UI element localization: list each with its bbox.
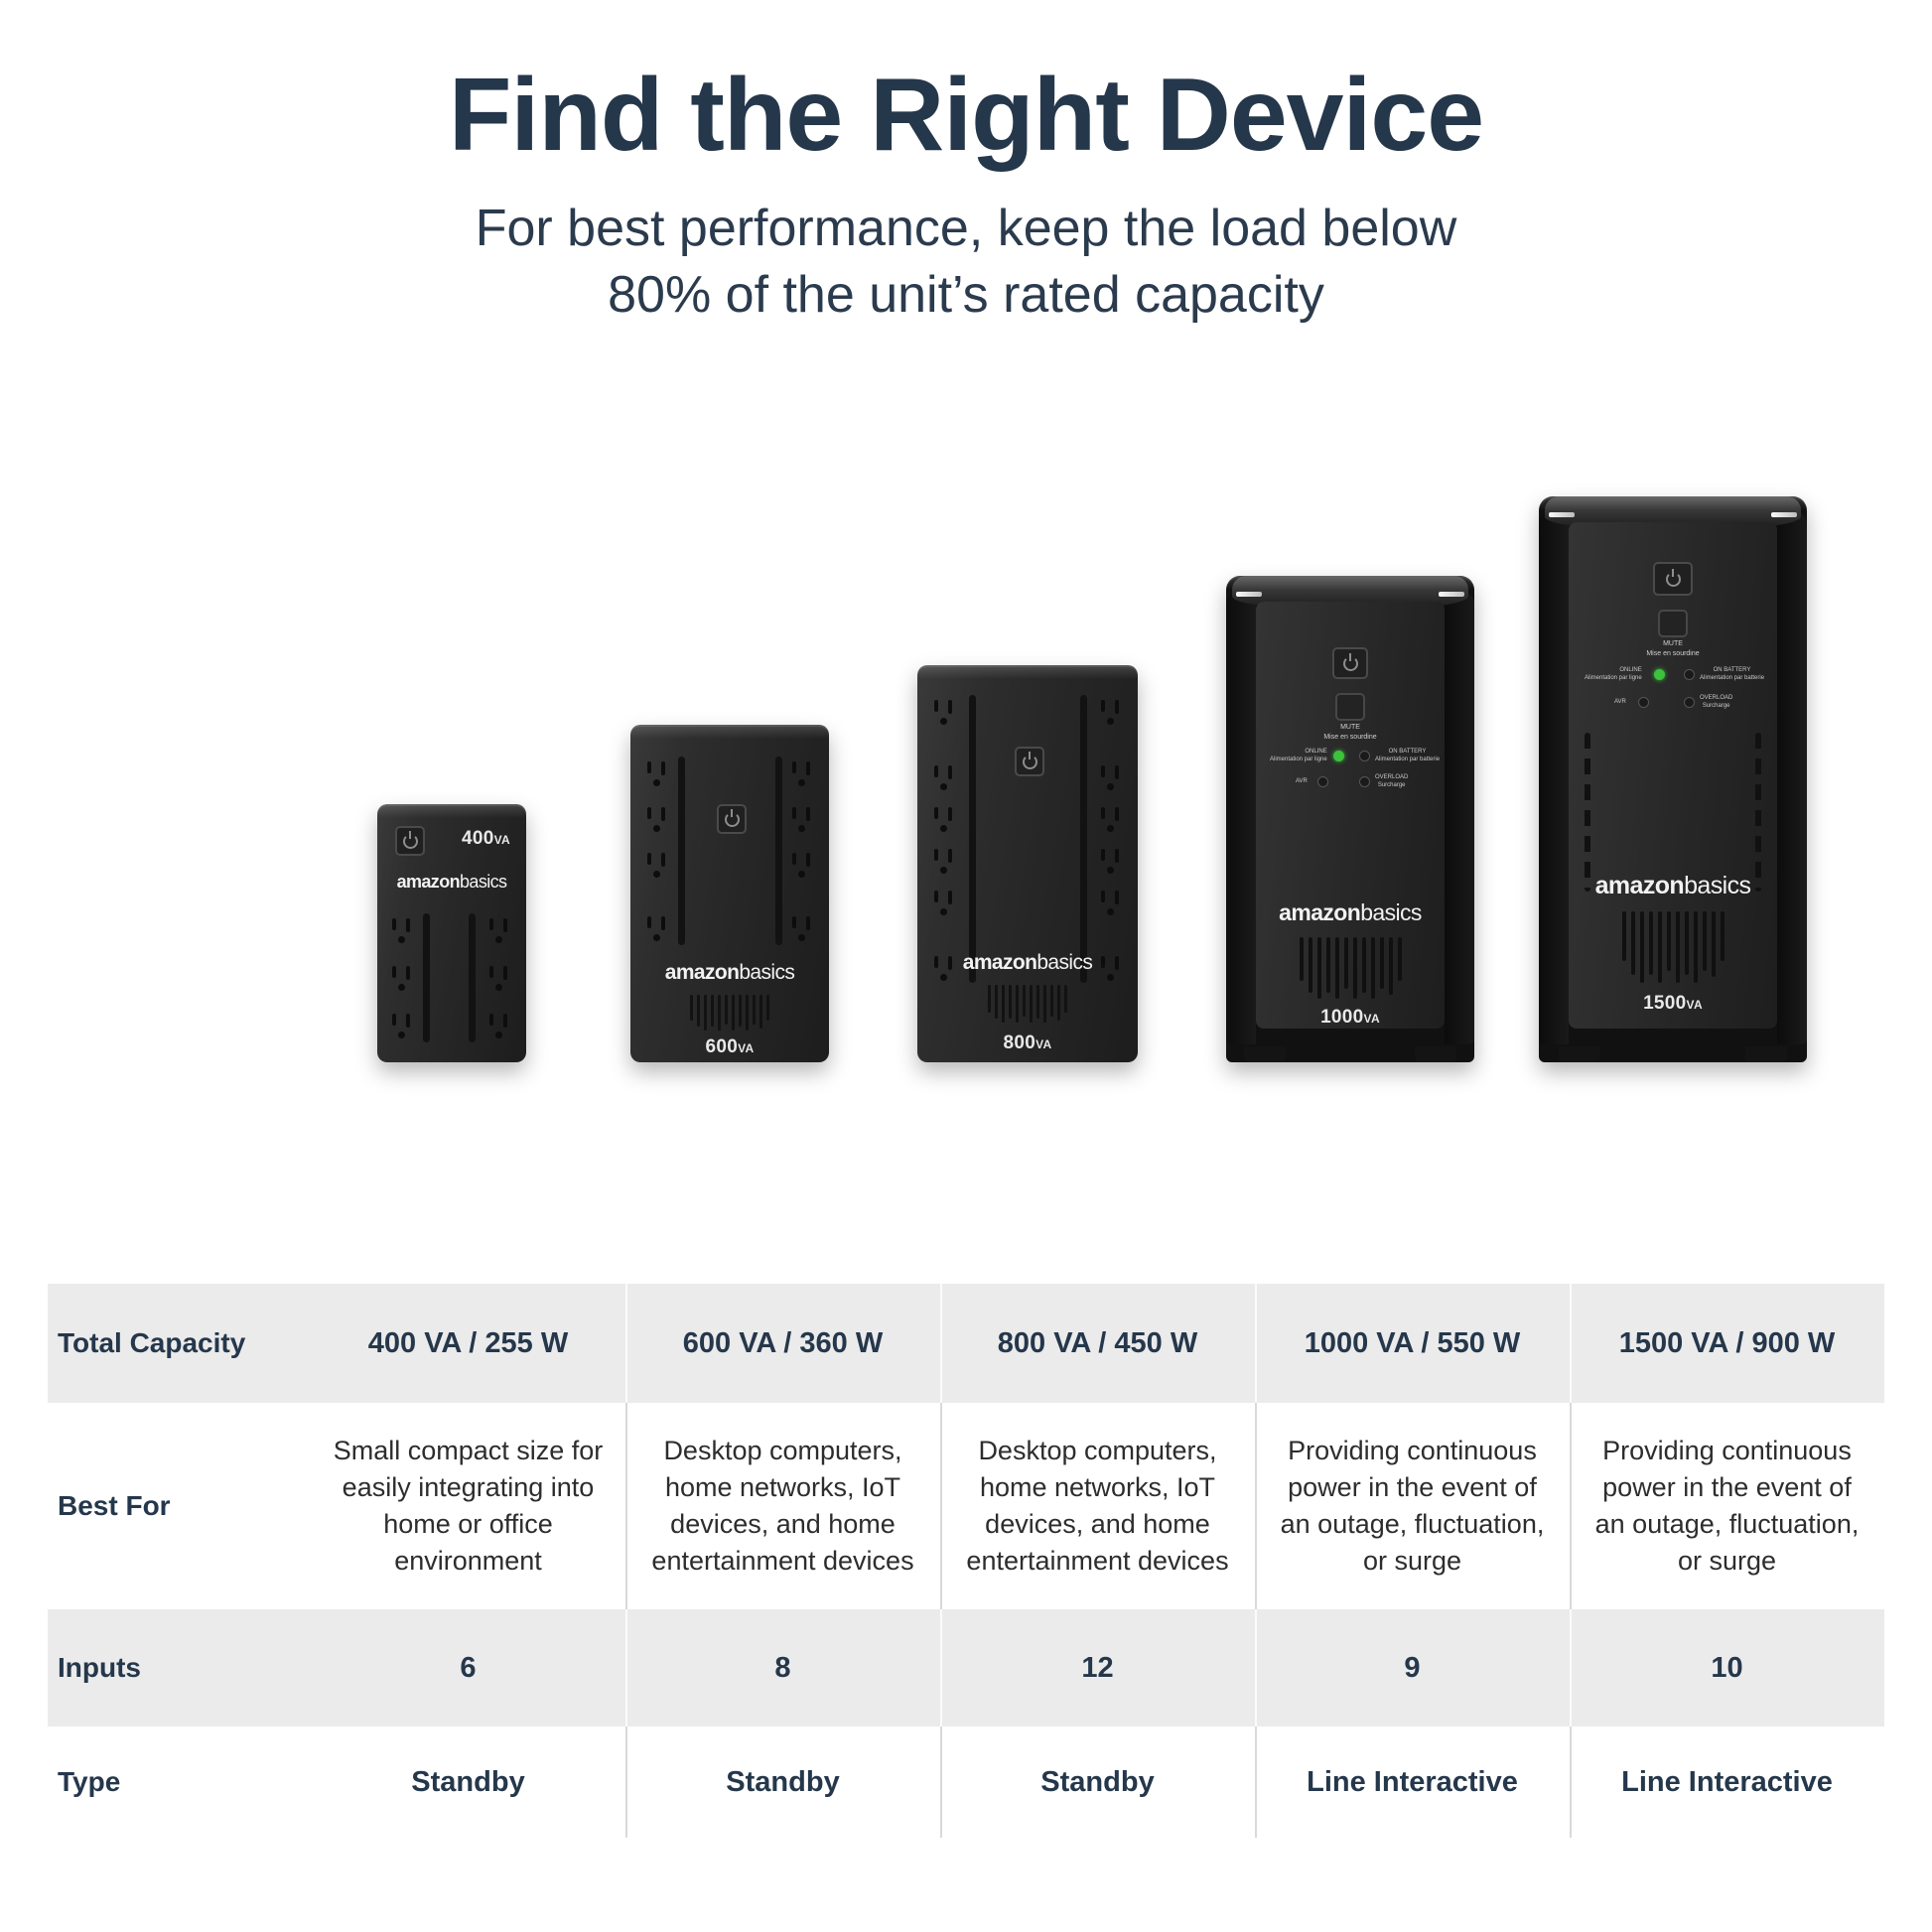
outlet bbox=[387, 1011, 417, 1044]
outlet bbox=[787, 759, 817, 792]
va-rating-label-1000: 1000VA bbox=[1256, 1007, 1445, 1029]
outlet bbox=[484, 963, 514, 997]
brand-logo-800va: amazonbasics bbox=[917, 951, 1138, 975]
gloss-highlight-left bbox=[1236, 592, 1262, 597]
cell-inputs-1500va: 10 bbox=[1570, 1609, 1884, 1726]
led-overload-indicator bbox=[1359, 776, 1370, 787]
power-button-icon bbox=[1015, 747, 1044, 776]
outlet bbox=[929, 846, 959, 880]
led-avr-indicator bbox=[1317, 776, 1328, 787]
cell-bestfor-800va: Desktop computers, home networks, IoT de… bbox=[940, 1403, 1255, 1609]
tower-front-face: MUTEMise en sourdine ONLINEAlimentation … bbox=[1569, 522, 1777, 1029]
tower-side-right bbox=[1445, 592, 1474, 1044]
outlet bbox=[929, 888, 959, 921]
cell-bestfor-400va: Small compact size for easily integratin… bbox=[311, 1403, 625, 1609]
cell-capacity-1500va: 1500 VA / 900 W bbox=[1570, 1284, 1884, 1403]
led-online-indicator bbox=[1333, 751, 1344, 761]
product-image-1500va: MUTEMise en sourdine ONLINEAlimentation … bbox=[1489, 496, 1857, 1062]
outlet bbox=[1096, 762, 1126, 796]
led-battery-indicator bbox=[1684, 669, 1695, 680]
vent-grille bbox=[1598, 911, 1747, 983]
cell-capacity-400va: 400 VA / 255 W bbox=[311, 1284, 625, 1403]
va-rating-label-600: 600VA bbox=[630, 1036, 829, 1058]
outlet-strip-left bbox=[678, 757, 685, 945]
table-row-total-capacity: Total Capacity 400 VA / 255 W 600 VA / 3… bbox=[48, 1284, 1884, 1403]
outlet bbox=[387, 915, 417, 949]
led-avr-label: AVR bbox=[1296, 778, 1308, 786]
led-overload-label: OVERLOADSurcharge bbox=[1700, 695, 1732, 711]
outlet bbox=[484, 915, 514, 949]
gloss-highlight-right bbox=[1439, 592, 1464, 597]
va-rating-label-800: 800VA bbox=[917, 1033, 1138, 1054]
device-body-600va: amazonbasics 600VA bbox=[630, 725, 829, 1062]
tower-foot-right bbox=[1745, 1046, 1787, 1062]
led-online-label: ONLINEAlimentation par ligne bbox=[1585, 667, 1642, 683]
cell-type-1500va: Line Interactive bbox=[1570, 1726, 1884, 1838]
outlet bbox=[1096, 888, 1126, 921]
cell-capacity-600va: 600 VA / 360 W bbox=[625, 1284, 940, 1403]
outlet bbox=[1096, 804, 1126, 838]
page-header: Find the Right Device For best performan… bbox=[0, 0, 1932, 328]
gloss-highlight-left bbox=[1549, 512, 1575, 517]
vent-grille bbox=[1280, 937, 1421, 999]
product-image-row: 400VA amazonbasics bbox=[0, 367, 1932, 1062]
gloss-highlight-right bbox=[1771, 512, 1797, 517]
table-row-inputs: Inputs 6 8 12 9 10 bbox=[48, 1609, 1884, 1726]
subtitle-line-2: 80% of the unit’s rated capacity bbox=[261, 262, 1671, 329]
comparison-table: Total Capacity 400 VA / 255 W 600 VA / 3… bbox=[48, 1284, 1884, 1838]
outlet bbox=[929, 697, 959, 731]
va-rating-label-400: 400VA bbox=[462, 828, 510, 850]
led-overload-label: OVERLOADSurcharge bbox=[1375, 774, 1408, 790]
cell-bestfor-1000va: Providing continuous power in the event … bbox=[1255, 1403, 1570, 1609]
outlet bbox=[787, 850, 817, 884]
led-overload-indicator bbox=[1684, 697, 1695, 708]
outlet-strip-left bbox=[423, 913, 430, 1042]
cell-capacity-1000va: 1000 VA / 550 W bbox=[1255, 1284, 1570, 1403]
tower-side-left bbox=[1226, 592, 1256, 1044]
row-label-total-capacity: Total Capacity bbox=[48, 1284, 311, 1403]
outlet-strip-right bbox=[469, 913, 476, 1042]
outlet bbox=[929, 804, 959, 838]
vent-grille bbox=[670, 995, 789, 1031]
mute-button[interactable] bbox=[1335, 693, 1365, 721]
mute-button[interactable] bbox=[1658, 610, 1688, 637]
tower-side-right bbox=[1777, 512, 1807, 1044]
cell-type-1000va: Line Interactive bbox=[1255, 1726, 1570, 1838]
power-button-icon[interactable] bbox=[1653, 562, 1693, 596]
tower-foot-left bbox=[1559, 1046, 1600, 1062]
side-vent-left bbox=[1585, 733, 1590, 892]
outlet-strip-right bbox=[775, 757, 782, 945]
mute-label: MUTEMise en sourdine bbox=[1569, 639, 1777, 658]
cell-inputs-400va: 6 bbox=[311, 1609, 625, 1726]
led-battery-label: ON BATTERYAlimentation par batterie bbox=[1375, 749, 1440, 764]
tower-foot-right bbox=[1415, 1046, 1456, 1062]
outlet bbox=[484, 1011, 514, 1044]
mute-label: MUTEMise en sourdine bbox=[1256, 723, 1445, 742]
cell-capacity-800va: 800 VA / 450 W bbox=[940, 1284, 1255, 1403]
outlet bbox=[787, 913, 817, 947]
va-rating-label-1500: 1500VA bbox=[1569, 993, 1777, 1015]
outlet bbox=[642, 804, 672, 838]
power-button-icon bbox=[717, 804, 747, 834]
cell-inputs-800va: 12 bbox=[940, 1609, 1255, 1726]
device-body-1000va: MUTEMise en sourdine ONLINEAlimentation … bbox=[1226, 576, 1474, 1062]
outlet bbox=[642, 759, 672, 792]
subtitle-line-1: For best performance, keep the load belo… bbox=[261, 196, 1671, 262]
brand-logo-1500va: amazonbasics bbox=[1569, 872, 1777, 900]
vent-grille bbox=[965, 985, 1090, 1023]
led-avr-label: AVR bbox=[1614, 699, 1626, 707]
outlet bbox=[1096, 697, 1126, 731]
device-body-1500va: MUTEMise en sourdine ONLINEAlimentation … bbox=[1539, 496, 1807, 1062]
product-image-600va: amazonbasics 600VA bbox=[591, 725, 869, 1062]
led-battery-indicator bbox=[1359, 751, 1370, 761]
outlet bbox=[642, 913, 672, 947]
table-row-best-for: Best For Small compact size for easily i… bbox=[48, 1403, 1884, 1609]
outlet-strip-right bbox=[1080, 695, 1087, 983]
device-body-400va: 400VA amazonbasics bbox=[377, 804, 526, 1062]
device-body-800va: amazonbasics 800VA bbox=[917, 665, 1138, 1062]
led-battery-label: ON BATTERYAlimentation par batterie bbox=[1700, 667, 1764, 683]
brand-logo-400va: amazonbasics bbox=[377, 872, 526, 893]
outlet bbox=[1096, 846, 1126, 880]
led-avr-indicator bbox=[1638, 697, 1649, 708]
cell-type-800va: Standby bbox=[940, 1726, 1255, 1838]
outlet bbox=[929, 762, 959, 796]
power-button-icon[interactable] bbox=[1332, 647, 1368, 679]
led-online-label: ONLINEAlimentation par ligne bbox=[1270, 749, 1327, 764]
outlet bbox=[787, 804, 817, 838]
tower-foot-left bbox=[1244, 1046, 1286, 1062]
cell-inputs-1000va: 9 bbox=[1255, 1609, 1570, 1726]
brand-logo-600va: amazonbasics bbox=[630, 961, 829, 985]
power-button-icon bbox=[395, 826, 425, 856]
outlet bbox=[387, 963, 417, 997]
outlet bbox=[642, 850, 672, 884]
tower-side-left bbox=[1539, 512, 1569, 1044]
outlet-strip-left bbox=[969, 695, 976, 983]
table-row-type: Type Standby Standby Standby Line Intera… bbox=[48, 1726, 1884, 1838]
cell-inputs-600va: 8 bbox=[625, 1609, 940, 1726]
product-image-400va: 400VA amazonbasics bbox=[333, 804, 571, 1062]
product-image-1000va: MUTEMise en sourdine ONLINEAlimentation … bbox=[1186, 576, 1514, 1062]
cell-bestfor-600va: Desktop computers, home networks, IoT de… bbox=[625, 1403, 940, 1609]
row-label-best-for: Best For bbox=[48, 1403, 311, 1609]
cell-bestfor-1500va: Providing continuous power in the event … bbox=[1570, 1403, 1884, 1609]
cell-type-600va: Standby bbox=[625, 1726, 940, 1838]
page-subtitle: For best performance, keep the load belo… bbox=[261, 196, 1671, 328]
tower-front-face: MUTEMise en sourdine ONLINEAlimentation … bbox=[1256, 602, 1445, 1029]
cell-type-400va: Standby bbox=[311, 1726, 625, 1838]
brand-logo-1000va: amazonbasics bbox=[1256, 899, 1445, 926]
product-image-800va: amazonbasics 800VA bbox=[874, 665, 1181, 1062]
row-label-type: Type bbox=[48, 1726, 311, 1838]
side-vent-right bbox=[1755, 733, 1761, 892]
page-title: Find the Right Device bbox=[0, 62, 1932, 170]
led-online-indicator bbox=[1654, 669, 1665, 680]
row-label-inputs: Inputs bbox=[48, 1609, 311, 1726]
